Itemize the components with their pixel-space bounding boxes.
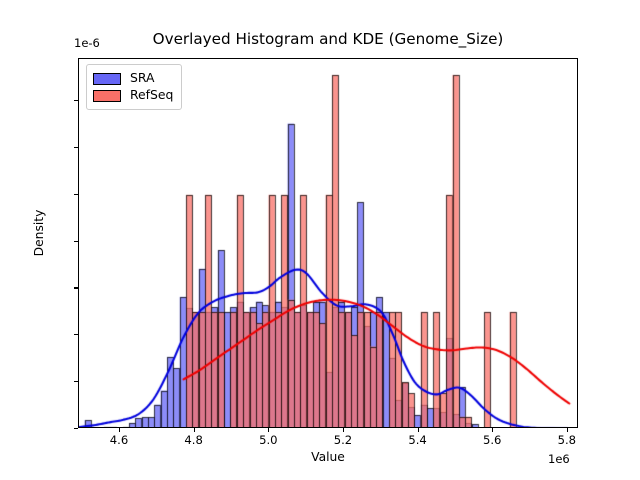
legend-label-sra: SRA	[130, 72, 154, 84]
x-tick-label: 5.4	[408, 433, 426, 447]
x-tick-mark	[268, 428, 269, 432]
matplotlib-figure: Overlayed Histogram and KDE (Genome_Size…	[0, 0, 640, 480]
chart-title: Overlayed Histogram and KDE (Genome_Size…	[78, 30, 578, 48]
x-tick-label: 4.6	[110, 433, 128, 447]
legend-swatch-refseq	[93, 90, 121, 102]
x-tick-label: 5.8	[558, 433, 576, 447]
legend-label-refseq: RefSeq	[130, 89, 173, 101]
x-tick-label: 4.8	[184, 433, 202, 447]
x-tick-mark	[119, 428, 120, 432]
legend-swatch-sra	[93, 73, 121, 85]
x-tick-label: 5.2	[334, 433, 352, 447]
x-tick-label: 5.6	[483, 433, 501, 447]
x-tick-mark	[492, 428, 493, 432]
chart-legend[interactable]: SRA RefSeq	[86, 64, 182, 110]
y-axis-offset-text: 1e-6	[74, 36, 100, 50]
x-tick-mark	[418, 428, 419, 432]
y-axis-label: Density	[32, 173, 46, 293]
histogram-kde-canvas	[79, 59, 578, 428]
x-tick-mark	[567, 428, 568, 432]
legend-item-sra[interactable]: SRA	[93, 70, 173, 87]
x-axis-label: Value	[78, 450, 578, 464]
plot-area	[78, 58, 578, 428]
x-tick-mark	[343, 428, 344, 432]
x-tick-mark	[194, 428, 195, 432]
y-tick-mark	[74, 428, 78, 429]
x-tick-label: 5.0	[259, 433, 277, 447]
legend-item-refseq[interactable]: RefSeq	[93, 87, 173, 104]
